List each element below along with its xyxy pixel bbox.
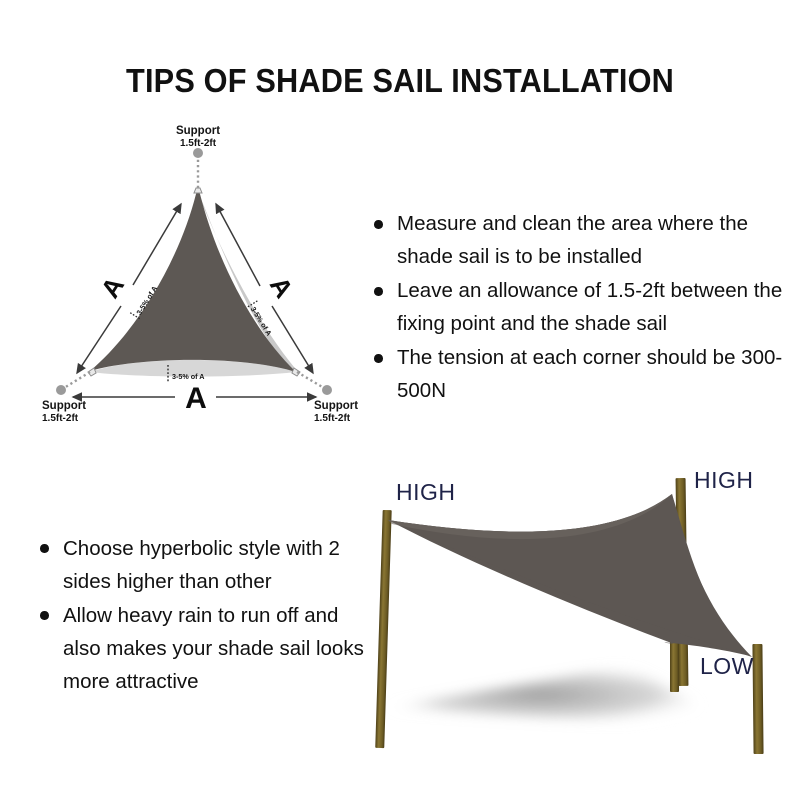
corner-label-right-low: LOW bbox=[700, 653, 754, 679]
support-label-bottom-left: Support 1.5ft-2ft bbox=[42, 400, 86, 424]
triangle-diagram-panel: Support 1.5ft-2ft Support 1.5ft-2ft Supp… bbox=[28, 120, 368, 440]
dimension-label-left: A bbox=[95, 271, 131, 303]
support-label-top: Support 1.5ft-2ft bbox=[176, 125, 220, 149]
dimension-label-right: A bbox=[264, 271, 300, 303]
triangle-diagram-svg: Support 1.5ft-2ft Support 1.5ft-2ft Supp… bbox=[28, 120, 368, 440]
tether-bottom-left bbox=[64, 372, 90, 388]
hyperbolic-sail-panel: HIGH HIGH LOW bbox=[372, 458, 788, 788]
list-item: Allow heavy rain to run off and also mak… bbox=[38, 599, 368, 698]
corner-label-left-high: HIGH bbox=[396, 479, 456, 505]
anchor-point-bottom-right bbox=[322, 385, 332, 395]
support-label-bottom-left-line1: Support bbox=[42, 400, 86, 412]
list-item: Measure and clean the area where the sha… bbox=[372, 208, 784, 273]
dimension-label-bottom: A bbox=[185, 382, 207, 415]
installation-tips-list: Measure and clean the area where the sha… bbox=[372, 208, 784, 407]
style-tips-panel: Choose hyperbolic style with 2 sides hig… bbox=[38, 532, 368, 712]
support-label-top-line2: 1.5ft-2ft bbox=[180, 138, 217, 149]
post-middle bbox=[670, 636, 679, 692]
anchor-point-bottom-left bbox=[56, 385, 66, 395]
list-item: The tension at each corner should be 300… bbox=[372, 342, 784, 407]
post-left bbox=[375, 510, 391, 748]
infographic-page: TIPS OF SHADE SAIL INSTALLATION Support bbox=[0, 0, 800, 800]
support-label-bottom-right-line2: 1.5ft-2ft bbox=[314, 413, 351, 424]
list-item: Choose hyperbolic style with 2 sides hig… bbox=[38, 532, 368, 598]
anchor-point-top bbox=[193, 148, 203, 158]
corner-label-right-high: HIGH bbox=[694, 467, 754, 493]
style-tips-list: Choose hyperbolic style with 2 sides hig… bbox=[38, 532, 368, 698]
tether-bottom-right bbox=[297, 372, 324, 388]
curve-note-bottom: 3-5% of A bbox=[172, 372, 204, 381]
page-title: TIPS OF SHADE SAIL INSTALLATION bbox=[28, 62, 772, 100]
corner-fitting-top bbox=[194, 188, 202, 193]
support-label-bottom-right: Support 1.5ft-2ft bbox=[314, 400, 358, 424]
support-label-bottom-right-line1: Support bbox=[314, 400, 358, 412]
list-item: Leave an allowance of 1.5-2ft between th… bbox=[372, 275, 784, 340]
ground-shadow bbox=[382, 666, 702, 724]
installation-tips-panel: Measure and clean the area where the sha… bbox=[372, 208, 784, 408]
support-label-bottom-left-line2: 1.5ft-2ft bbox=[42, 413, 79, 424]
hyperbolic-sail-svg: HIGH HIGH LOW bbox=[372, 458, 788, 788]
post-right-low bbox=[752, 644, 763, 754]
support-label-top-line1: Support bbox=[176, 125, 220, 137]
sail-canopy-body bbox=[388, 494, 752, 657]
